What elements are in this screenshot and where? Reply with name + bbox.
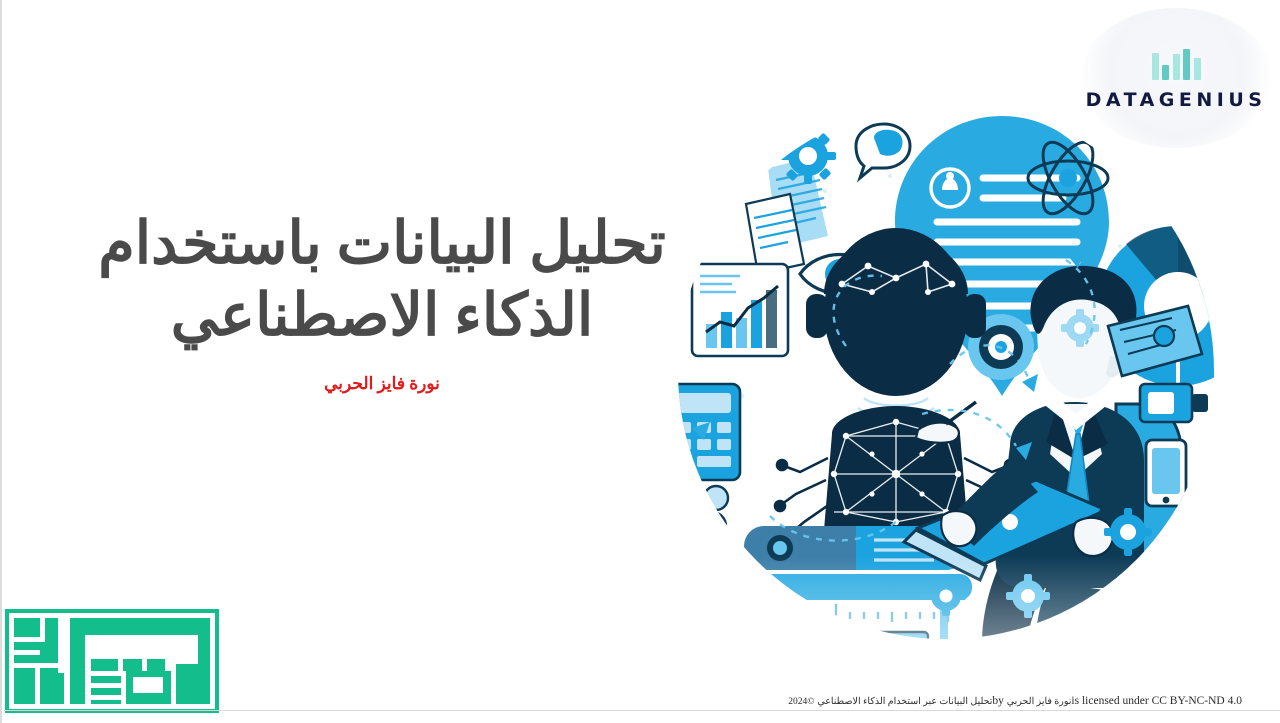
license-by-word: by — [992, 695, 1004, 707]
license-copyright: ©2024 — [788, 697, 814, 707]
title-block: تحليل البيانات باستخدام الذكاء الاصطناعي… — [62, 208, 702, 394]
title-slide: DATAGENIUS تحليل البيانات باستخدام الذكا… — [0, 0, 1280, 723]
license-arabic-title: تحليل البيانات عبر استخدام الذكاء الاصطن… — [817, 697, 992, 707]
footer: ©2024 تحليل البيانات عبر استخدام الذكاء … — [2, 689, 1280, 711]
license-author: نورة فايز الحربي — [1007, 697, 1072, 707]
footer-divider — [4, 710, 1280, 711]
ai-data-analysis-illustration — [650, 96, 1242, 666]
bar-chart-icon — [1152, 46, 1201, 80]
author-name: نورة فايز الحربي — [62, 374, 702, 394]
license-notice: ©2024 تحليل البيانات عبر استخدام الذكاء … — [788, 695, 1242, 707]
license-english-text: is licensed under CC BY-NC-ND 4.0 — [1071, 695, 1242, 707]
page-title: تحليل البيانات باستخدام الذكاء الاصطناعي — [62, 208, 702, 352]
